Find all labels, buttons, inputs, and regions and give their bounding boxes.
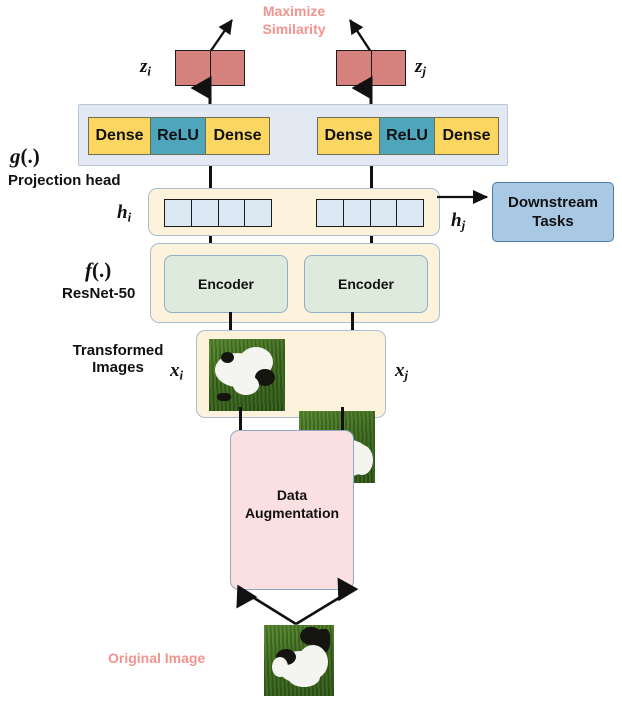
- simclr-diagram: Maximize Similarity zi zj: [0, 0, 622, 701]
- z-vector-right-cell: [372, 50, 407, 86]
- dense-block[interactable]: Dense: [434, 117, 499, 155]
- z-vector-right-cell: [336, 50, 372, 86]
- h-vector-left: [164, 199, 272, 227]
- connector-aug-to-image-left: [239, 407, 242, 432]
- original-image: [264, 625, 334, 696]
- arrow-original-to-aug-right: [296, 593, 347, 624]
- transformed-image-left: [209, 339, 285, 411]
- arrow-original-to-aug-left: [246, 593, 296, 624]
- encoder-symbol: f(.): [85, 258, 111, 283]
- z-vector-left: [175, 50, 245, 86]
- z-vector-right: [336, 50, 406, 86]
- encoder-box-right[interactable]: Encoder: [304, 255, 428, 313]
- dense-block[interactable]: Dense: [88, 117, 151, 155]
- h-vector-left-cell: [192, 199, 219, 227]
- projection-head-name: Projection head: [8, 172, 121, 189]
- projection-head-container: Dense ReLU Dense Dense ReLU Dense: [78, 104, 508, 166]
- h-vector-right-cell: [316, 199, 344, 227]
- z-i-label: zi: [140, 56, 151, 80]
- x-i-label: xi: [170, 360, 183, 384]
- h-vector-right: [316, 199, 424, 227]
- transformed-images-label: Transformed Images: [52, 342, 184, 377]
- z-j-label: zj: [415, 56, 426, 80]
- connector-aug-to-image-right: [341, 407, 344, 432]
- arrow-z-right-to-similarity: [350, 20, 371, 52]
- encoder-name: ResNet-50: [62, 285, 135, 302]
- dense-block[interactable]: Dense: [205, 117, 270, 155]
- dense-block[interactable]: Dense: [317, 117, 380, 155]
- z-vector-left-cell: [175, 50, 211, 86]
- connector-proj-left-to-h: [209, 166, 212, 190]
- downstream-tasks-box[interactable]: Downstream Tasks: [492, 182, 614, 242]
- x-j-label: xj: [395, 360, 408, 384]
- arrow-z-left-to-similarity: [210, 20, 232, 52]
- transformed-images-container: [196, 330, 386, 418]
- relu-block[interactable]: ReLU: [150, 117, 206, 155]
- relu-block[interactable]: ReLU: [379, 117, 435, 155]
- projection-head-symbol: g(.): [10, 144, 40, 169]
- connector-proj-right-to-h: [370, 166, 373, 190]
- h-i-label: hi: [117, 202, 131, 226]
- h-vector-right-cell: [397, 199, 424, 227]
- h-layer-container: [148, 188, 440, 236]
- h-vector-right-cell: [344, 199, 371, 227]
- encoder-layer-container: Encoder Encoder: [150, 243, 440, 323]
- h-vector-left-cell: [164, 199, 192, 227]
- h-vector-left-cell: [245, 199, 272, 227]
- original-image-label: Original Image: [108, 650, 248, 668]
- h-vector-left-cell: [219, 199, 246, 227]
- encoder-box-left[interactable]: Encoder: [164, 255, 288, 313]
- h-vector-right-cell: [371, 199, 398, 227]
- z-vector-left-cell: [211, 50, 246, 86]
- data-augmentation-box[interactable]: Data Augmentation: [230, 430, 354, 590]
- projection-branch-right: Dense ReLU Dense: [317, 117, 500, 155]
- projection-branch-left: Dense ReLU Dense: [88, 117, 271, 155]
